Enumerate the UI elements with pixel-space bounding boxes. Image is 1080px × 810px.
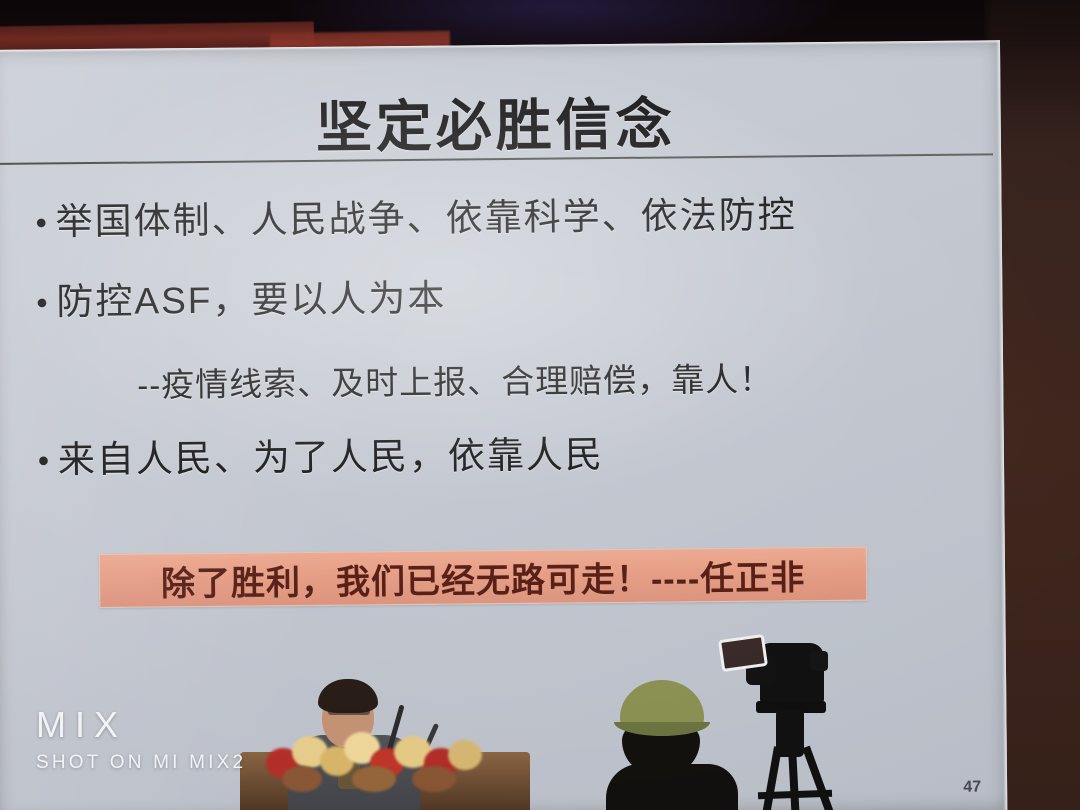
camera-watermark: MIX SHOT ON MI MIX2 [36, 707, 246, 774]
bullet-text-1: 举国体制、人民战争、依靠科学、依法防控 [55, 192, 796, 245]
bullet-item-2: • 防控ASF，要以人为本 [36, 271, 962, 326]
slide-page-number: 47 [963, 779, 981, 797]
watermark-caption: SHOT ON MI MIX2 [36, 752, 246, 774]
bullet-text-3: 来自人民、为了人民，依靠人民 [58, 432, 604, 483]
tripod-leg [762, 746, 782, 810]
bullet-text-2: 防控ASF，要以人为本 [56, 276, 446, 326]
watermark-brand: MIX [36, 707, 246, 743]
bullet-item-1: • 举国体制、人民战争、依靠科学、依法防控 [35, 191, 961, 246]
sub-line-text: --疫情线索、及时上报、合理赔偿，靠人！ [137, 351, 963, 407]
slide-title: 坚定必胜信念 [0, 76, 1001, 167]
flower-arrangement [262, 722, 512, 786]
quote-text: 除了胜利，我们已经无路可走！----任正非 [161, 550, 806, 605]
camera-monitor-screen [718, 634, 768, 672]
video-camera-on-tripod [716, 635, 866, 810]
highlighted-quote-box: 除了胜利，我们已经无路可走！----任正非 [99, 547, 867, 608]
camera-viewfinder [810, 651, 828, 671]
tripod-leg [802, 746, 834, 810]
slide-body: • 举国体制、人民战争、依靠科学、依法防控 • 防控ASF，要以人为本 --疫情… [35, 191, 964, 518]
bullet-dot-icon: • [35, 199, 55, 245]
bullet-dot-icon: • [38, 437, 58, 483]
speaker-glasses [328, 708, 370, 715]
bullet-dot-icon: • [36, 279, 56, 325]
bullet-item-3: • 来自人民、为了人民，依靠人民 [38, 429, 964, 484]
photo-of-presentation-slide: 坚定必胜信念 • 举国体制、人民战争、依靠科学、依法防控 • 防控ASF，要以人… [0, 0, 1080, 810]
